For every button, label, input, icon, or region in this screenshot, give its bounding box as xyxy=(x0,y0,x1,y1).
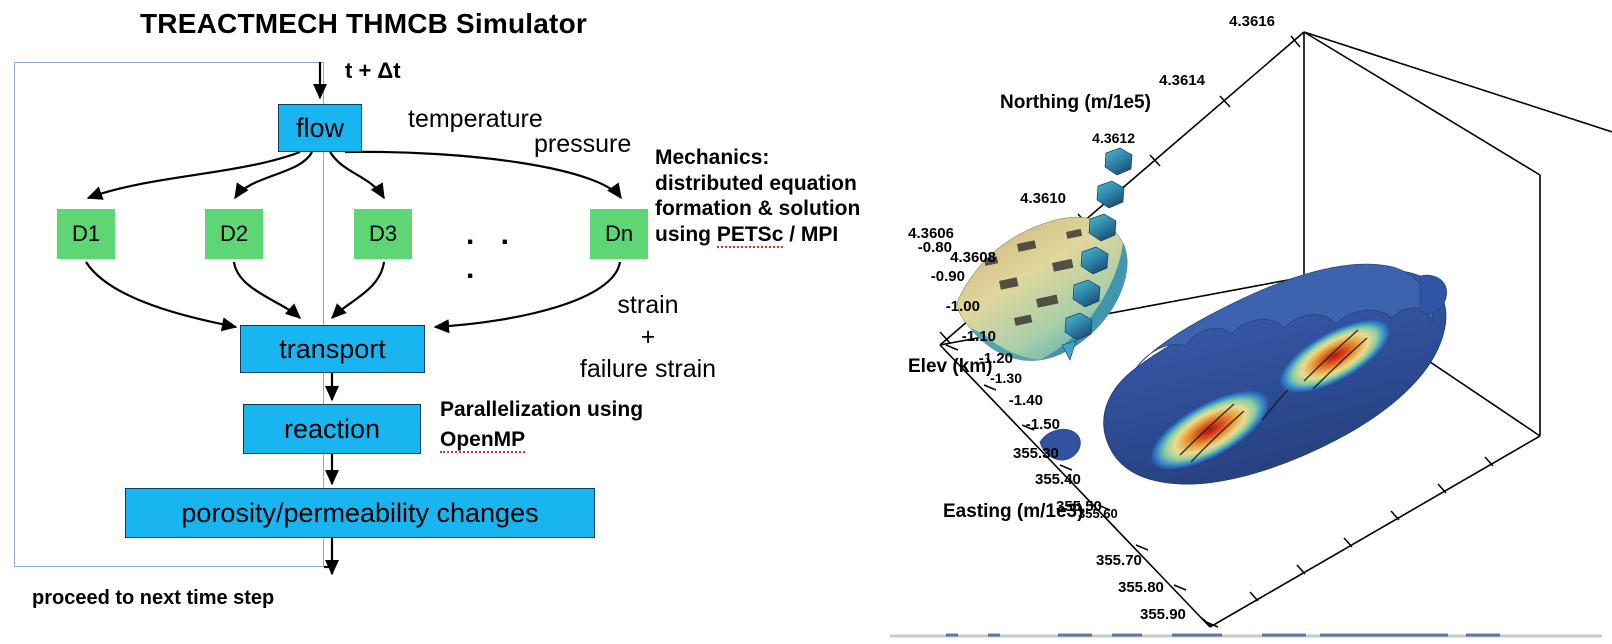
mechanics-note-petsc: PETSc xyxy=(717,223,784,248)
elev-tick-7: -1.50 xyxy=(1026,416,1060,433)
node-flow[interactable]: flow xyxy=(278,104,362,152)
slide-root: TREACTMECH THMCB Simulator xyxy=(0,0,1612,644)
mechanics-note-line4-prefix: using xyxy=(655,223,717,246)
parallelization-note-line1: Parallelization using xyxy=(440,395,670,425)
strain-note-line1: strain xyxy=(568,289,728,321)
elev-tick-0: -0.80 xyxy=(918,239,952,256)
mechanics-note-line4-suffix: / MPI xyxy=(783,223,838,246)
easting-tick-4: 355.70 xyxy=(1096,552,1142,569)
elev-tick-3: -1.10 xyxy=(962,328,996,345)
three-d-plot-svg: 4.3616 4.3614 4.3612 4.3610 4.3608 4.360… xyxy=(880,0,1612,644)
node-porosity-permeability-changes[interactable]: porosity/permeability changes xyxy=(125,488,595,538)
label-pressure: pressure xyxy=(534,130,631,159)
elev-tick-5: -1.30 xyxy=(990,370,1022,386)
strain-note: strain + failure strain xyxy=(568,289,728,385)
northing-axis-label: Northing (m/1e5) xyxy=(1000,92,1151,113)
elev-tick-2: -1.00 xyxy=(946,298,980,315)
proceed-label: proceed to next time step xyxy=(32,587,274,610)
label-temperature: temperature xyxy=(408,105,543,134)
northing-tick-3: 4.3612 xyxy=(1092,130,1135,146)
elev-axis-label: Elev (km) xyxy=(908,356,992,377)
mechanics-note-line3: formation & solution xyxy=(655,196,900,222)
northing-tick-2: 4.3610 xyxy=(1020,190,1066,207)
parallelization-note-line2: OpenMP xyxy=(440,425,670,455)
easting-tick-3: 355.60 xyxy=(1078,506,1118,521)
node-domain-dn[interactable]: Dn xyxy=(590,209,648,259)
node-domain-d3[interactable]: D3 xyxy=(354,209,412,259)
easting-tick-5: 355.80 xyxy=(1118,579,1164,596)
timestep-label: t + Δt xyxy=(345,58,401,84)
three-d-plot-panel[interactable]: 4.3616 4.3614 4.3612 4.3610 4.3608 4.360… xyxy=(880,0,1612,644)
bottom-edge-artifact xyxy=(890,635,1602,636)
mechanics-note-line4: using PETSc / MPI xyxy=(655,222,900,248)
strain-note-line2: + xyxy=(568,321,728,353)
elev-tick-6: -1.40 xyxy=(1009,392,1043,409)
domain-ellipsis: . . . xyxy=(466,218,546,286)
node-domain-d1[interactable]: D1 xyxy=(57,209,115,259)
mechanics-note-line1: Mechanics: xyxy=(655,145,900,171)
mechanics-note: Mechanics: distributed equation formatio… xyxy=(655,145,900,247)
easting-tick-1: 355.40 xyxy=(1035,471,1081,488)
easting-tick-6: 355.90 xyxy=(1140,606,1186,623)
strain-note-line3: failure strain xyxy=(568,353,728,385)
mechanics-note-line2: distributed equation xyxy=(655,171,900,197)
easting-axis xyxy=(1202,457,1493,627)
northing-tick-5: 4.3616 xyxy=(1229,13,1275,30)
elev-tick-1: -0.90 xyxy=(931,268,965,285)
node-reaction[interactable]: reaction xyxy=(243,404,421,454)
easting-tick-0: 355.30 xyxy=(1013,445,1059,462)
northing-tick-4: 4.3614 xyxy=(1159,72,1206,89)
parallelization-note: Parallelization using OpenMP xyxy=(440,395,670,455)
northing-tick-1: 4.3608 xyxy=(950,249,996,266)
page-title: TREACTMECH THMCB Simulator xyxy=(140,8,660,40)
easting-axis-label: Easting (m/1e3) xyxy=(943,501,1083,522)
flowchart-panel: TREACTMECH THMCB Simulator xyxy=(0,0,900,644)
node-transport[interactable]: transport xyxy=(240,325,425,373)
node-domain-d2[interactable]: D2 xyxy=(205,209,263,259)
parallelization-note-openmp: OpenMP xyxy=(440,428,525,453)
